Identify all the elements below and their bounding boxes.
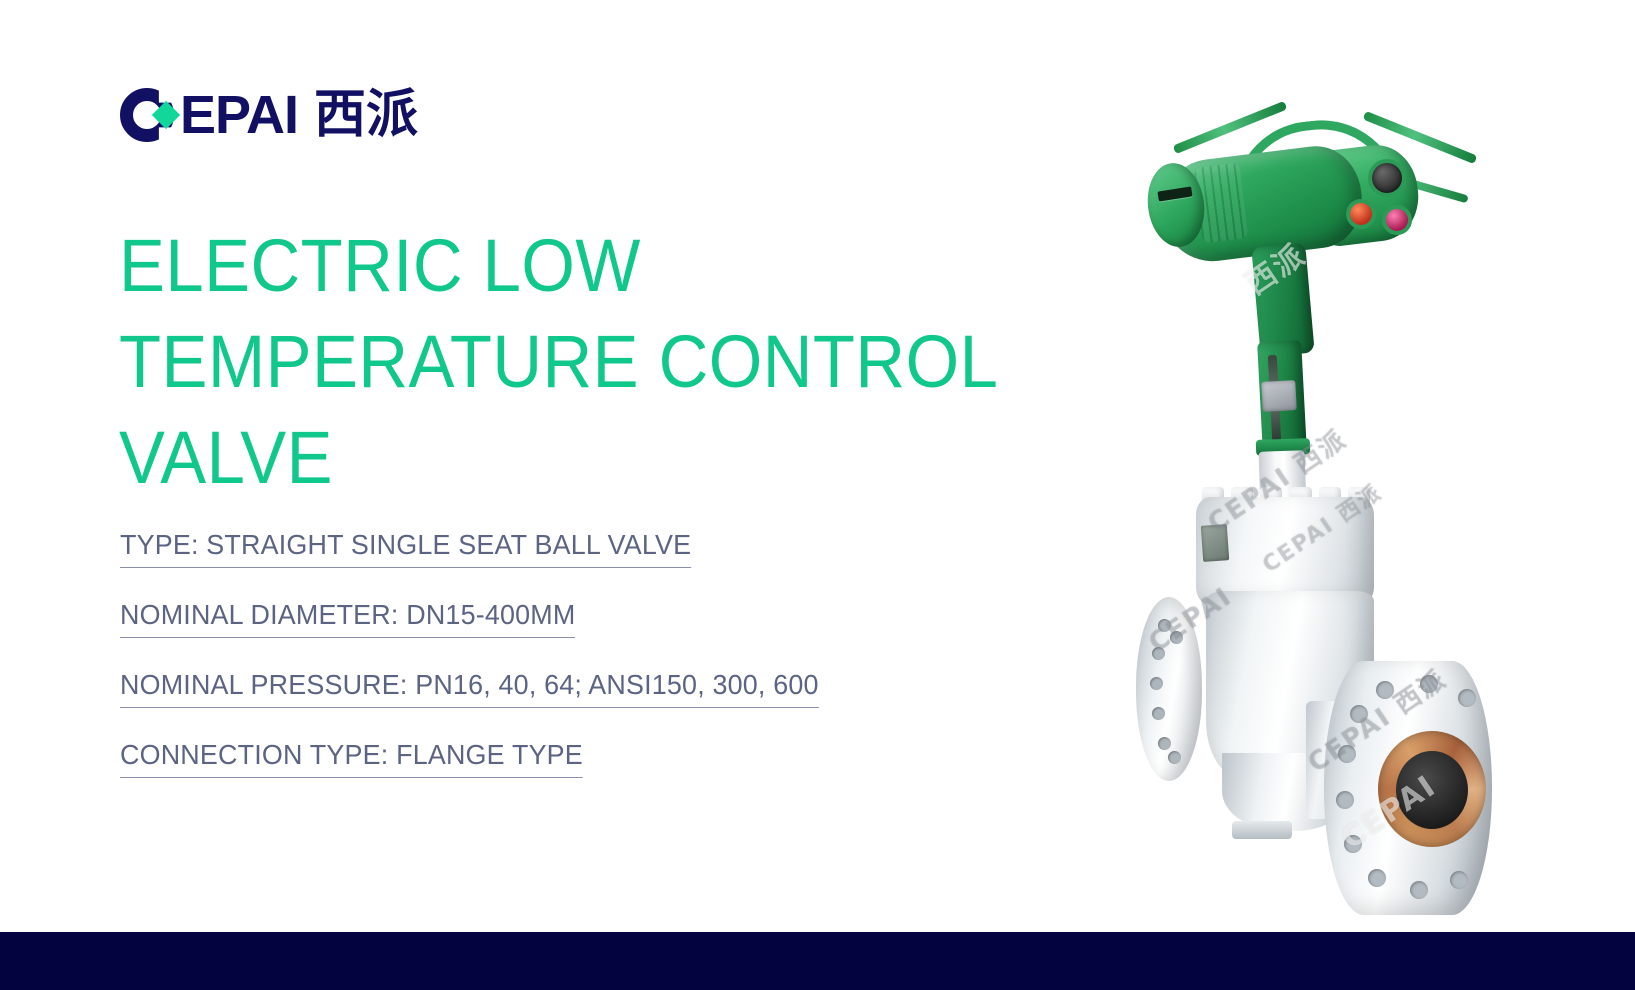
actuator-selector-knob-magenta xyxy=(1382,205,1412,235)
flange-bolt-hole xyxy=(1344,835,1362,853)
flange-bolt-hole xyxy=(1336,791,1354,809)
flange-bolt-hole xyxy=(1410,881,1428,899)
flange-bolt-hole xyxy=(1170,631,1183,644)
flange-bolt-hole xyxy=(1158,737,1171,750)
spec-item-connection-type: CONNECTION TYPE: FLANGE TYPE xyxy=(120,738,583,778)
spec-item-nominal-pressure: NOMINAL PRESSURE: PN16, 40, 64; ANSI150,… xyxy=(120,668,819,708)
spec-list: TYPE: STRAIGHT SINGLE SEAT BALL VALVE NO… xyxy=(120,528,980,808)
actuator-selector-knob-red xyxy=(1346,199,1376,229)
logo-wordmark: EPAI xyxy=(180,88,298,142)
flange-bolt-hole xyxy=(1152,647,1165,660)
stem-coupling-plate xyxy=(1261,380,1297,412)
spec-item-type: TYPE: STRAIGHT SINGLE SEAT BALL VALVE xyxy=(120,528,691,568)
spec-row-connection-type: CONNECTION TYPE: FLANGE TYPE xyxy=(120,738,980,808)
flange-bolt-hole xyxy=(1338,745,1356,763)
spec-item-nominal-diameter: NOMINAL DIAMETER: DN15-400MM xyxy=(120,598,575,638)
flange-bolt-hole xyxy=(1376,681,1394,699)
spec-row-nominal-diameter: NOMINAL DIAMETER: DN15-400MM xyxy=(120,598,980,668)
cepai-c-diamond-icon xyxy=(120,86,182,144)
product-slide: EPAI 西派 ELECTRIC LOW TEMPERATURE CONTROL… xyxy=(0,0,1635,990)
flange-bolt-hole xyxy=(1152,707,1165,720)
page-title: ELECTRIC LOW TEMPERATURE CONTROL VALVE xyxy=(119,218,1012,506)
flange-bolt-hole xyxy=(1368,869,1386,887)
valve-flange-left-bolt-holes xyxy=(1150,615,1180,765)
flange-bolt-hole xyxy=(1158,619,1171,632)
product-image: 西派 CEPAI 西派 CEPAI 西派 CEPAI CEPAI 西派 CEPA… xyxy=(1110,105,1530,835)
valve-body-foot xyxy=(1232,821,1292,839)
spec-row-nominal-pressure: NOMINAL PRESSURE: PN16, 40, 64; ANSI150,… xyxy=(120,668,980,738)
flange-bolt-hole xyxy=(1420,675,1438,693)
flange-bolt-hole xyxy=(1350,705,1368,723)
logo-chinese-name: 西派 xyxy=(314,89,418,141)
actuator-display-gauge-icon xyxy=(1368,159,1406,197)
flange-bolt-hole xyxy=(1450,871,1468,889)
valve-nameplate xyxy=(1201,524,1229,562)
valve-bore-opening xyxy=(1396,751,1468,829)
flange-bolt-hole xyxy=(1150,677,1163,690)
spec-row-type: TYPE: STRAIGHT SINGLE SEAT BALL VALVE xyxy=(120,528,980,598)
footer-bar xyxy=(0,932,1635,990)
cepai-logo: EPAI 西派 xyxy=(120,84,418,146)
flange-bolt-hole xyxy=(1458,689,1476,707)
flange-bolt-hole xyxy=(1168,751,1181,764)
